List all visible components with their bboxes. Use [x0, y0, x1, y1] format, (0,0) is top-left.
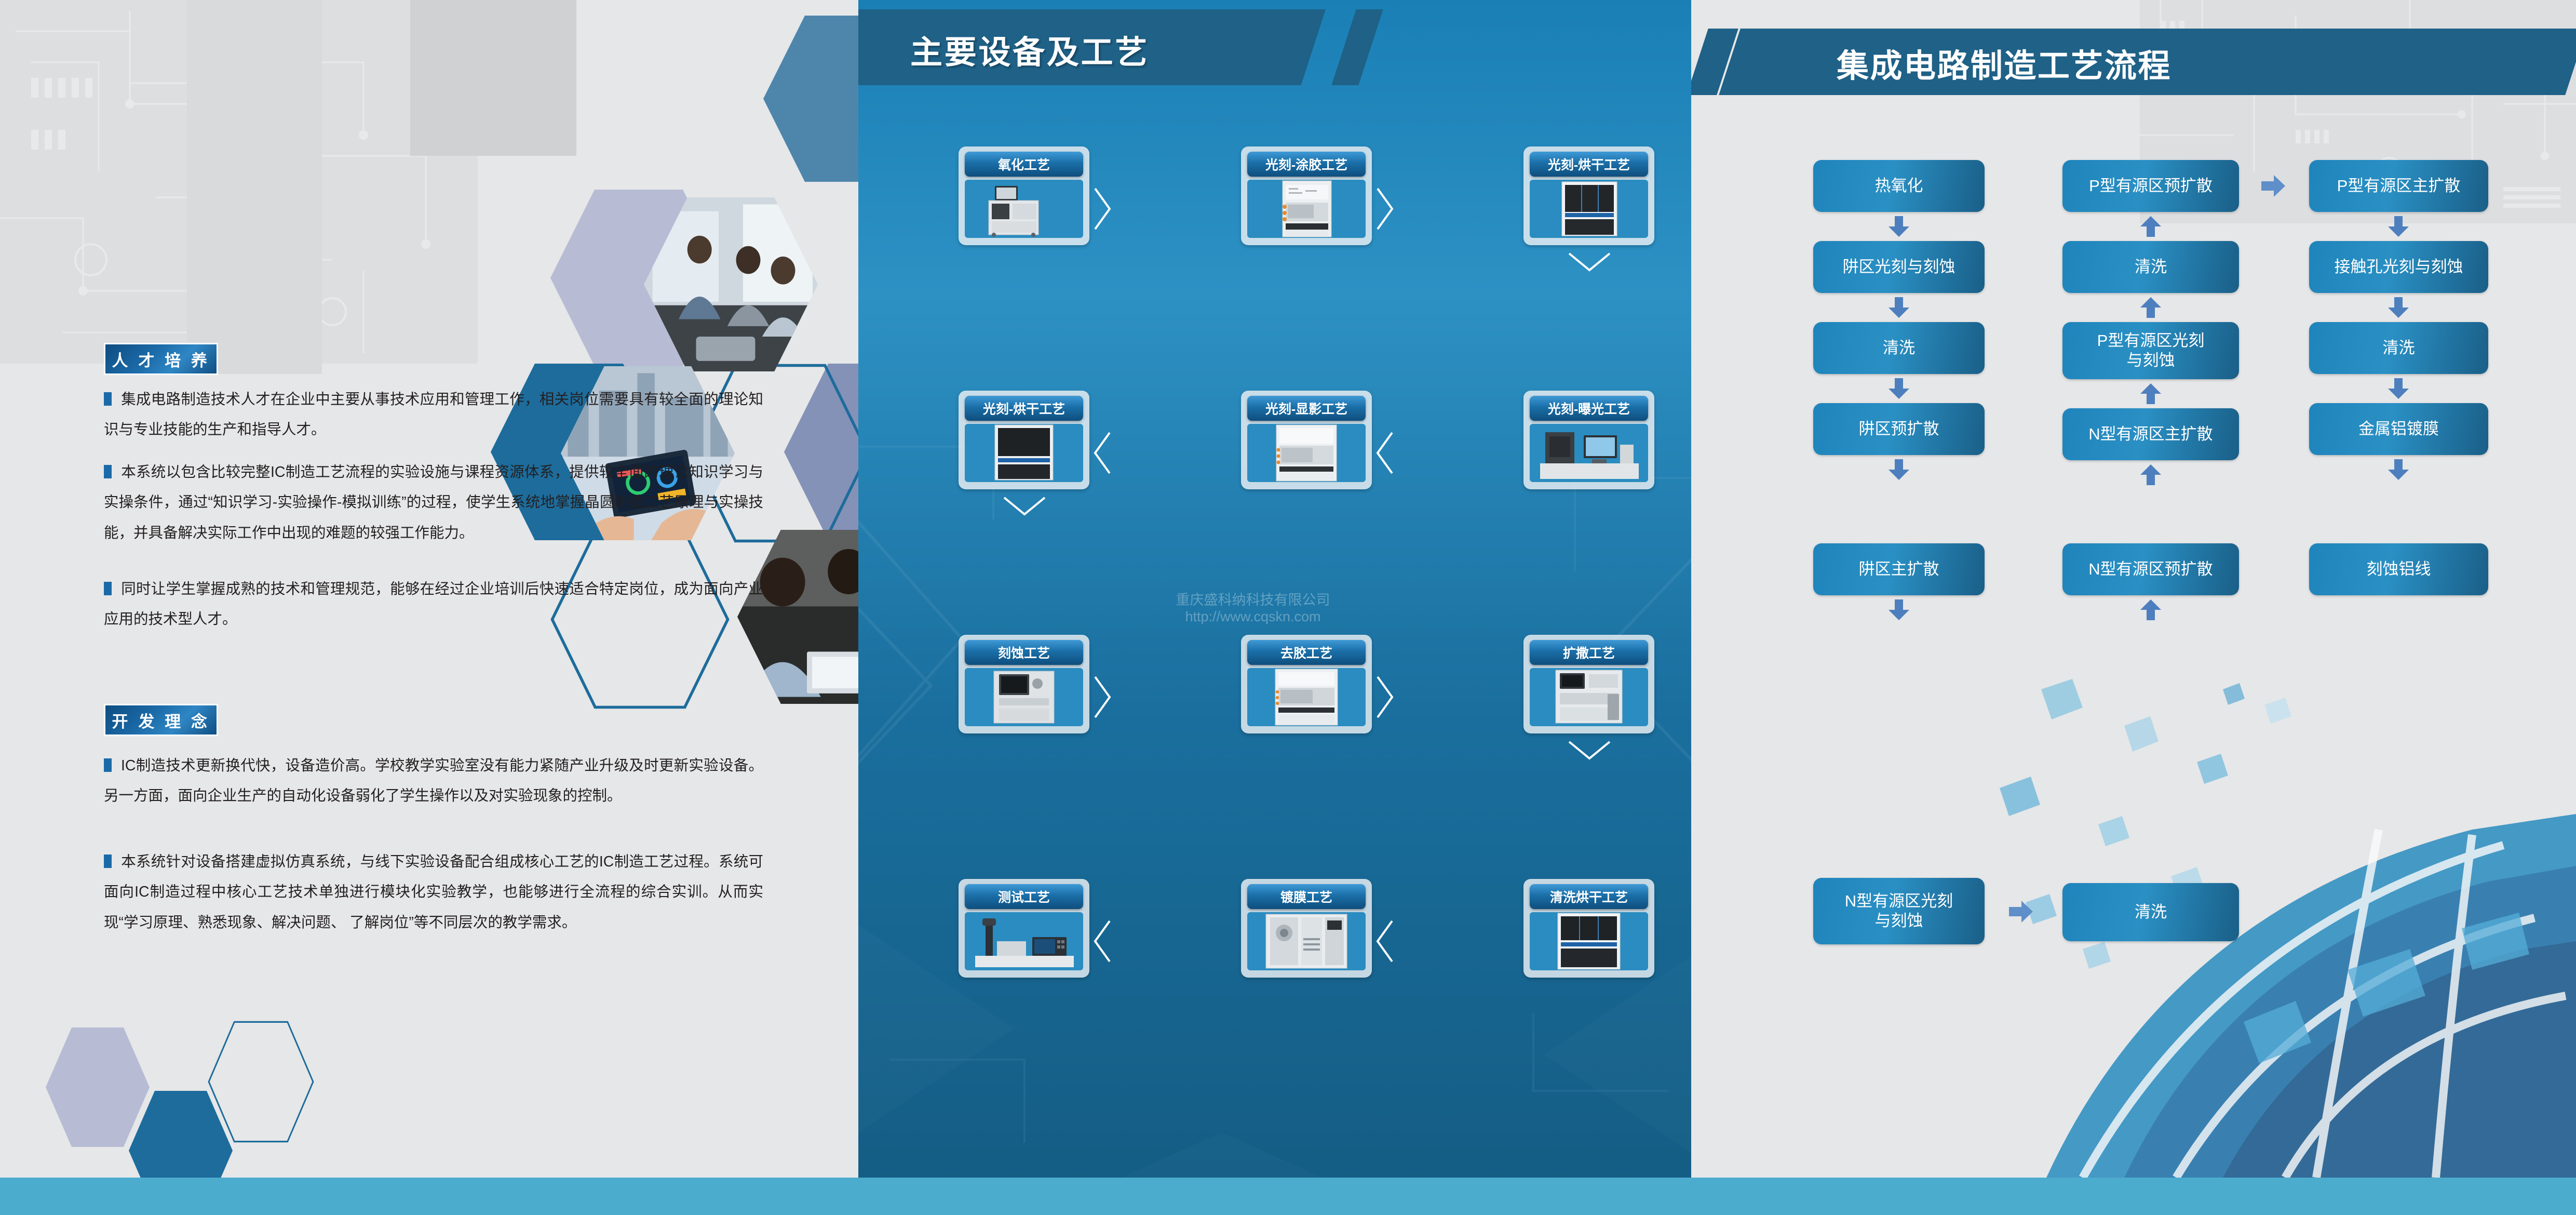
arrow-down-icon	[1566, 250, 1613, 274]
flow-box-c1-3[interactable]: 阱区预扩散	[1813, 403, 1985, 455]
arrow-down-icon	[2388, 216, 2409, 237]
paragraph-talent-1: 集成电路制造技术人才在企业中主要从事技术应用和管理工作，相关岗位需要具有较全面的…	[104, 384, 763, 445]
bullet-square-icon	[104, 392, 112, 406]
arrow-left-icon	[1373, 918, 1396, 965]
equipment-card[interactable]: 光刻-涂胶工艺	[1241, 146, 1372, 245]
arrow-down-icon	[1566, 739, 1613, 763]
hexagon-bottom-outline	[208, 1021, 314, 1143]
arrow-right-icon	[2261, 175, 2285, 197]
arrow-down-icon	[1889, 216, 1909, 237]
arrow-up-icon	[2140, 216, 2161, 237]
equipment-label: 扩撒工艺	[1530, 640, 1648, 665]
bullet-square-icon	[104, 465, 112, 478]
flow-box-c2-2[interactable]: P型有源区光刻 与刻蚀	[2062, 322, 2239, 379]
equipment-label: 光刻-曝光工艺	[1530, 396, 1648, 421]
arrow-left-icon	[1091, 918, 1114, 965]
badge-development-concept: 开 发 理 念	[104, 704, 218, 736]
flow-box-c3-3[interactable]: 金属铝镀膜	[2309, 403, 2488, 455]
equipment-label: 光刻-烘干工艺	[1530, 152, 1648, 177]
grey-accent-block-2	[187, 0, 322, 374]
equipment-card[interactable]: 镀膜工艺	[1241, 879, 1372, 978]
arrow-down-icon	[1889, 378, 1909, 399]
arrow-down-icon	[1889, 297, 1909, 318]
equipment-photo-oxidation	[965, 180, 1083, 238]
flow-box-c1-4[interactable]: 阱区主扩散	[1813, 543, 1985, 595]
equipment-photo-etch	[965, 668, 1083, 726]
equipment-label: 镀膜工艺	[1247, 884, 1366, 909]
equipment-card[interactable]: 清洗烘干工艺	[1523, 879, 1654, 978]
badge-talent-training-label: 人 才 培 养	[112, 348, 210, 371]
equipment-label: 光刻-显影工艺	[1247, 396, 1366, 421]
flow-box-c2-3[interactable]: N型有源区主扩散	[2062, 408, 2239, 460]
flow-box-c3-1[interactable]: 接触孔光刻与刻蚀	[2309, 241, 2488, 293]
paragraph-talent-1-text: 集成电路制造技术人才在企业中主要从事技术应用和管理工作，相关岗位需要具有较全面的…	[104, 391, 763, 438]
flow-box-c2-1[interactable]: 清洗	[2062, 241, 2239, 293]
paragraph-dev-1-text: IC制造技术更新换代快，设备造价高。学校教学实验室没有能力紧随产业升级及时更新实…	[104, 757, 763, 804]
flow-box-c1-1[interactable]: 阱区光刻与刻蚀	[1813, 241, 1985, 293]
flow-box-c3-2[interactable]: 清洗	[2309, 322, 2488, 374]
bottom-accent-strip	[0, 1178, 2576, 1215]
arrow-down-icon	[1001, 495, 1048, 518]
arrow-left-icon	[1091, 430, 1114, 476]
equipment-photo-diffusion	[1530, 668, 1648, 726]
flow-box-c1-5[interactable]: N型有源区光刻 与刻蚀	[1813, 878, 1985, 944]
right-panel-title: 集成电路制造工艺流程	[1837, 39, 2172, 86]
equipment-photo-bake-2	[965, 424, 1083, 482]
arrow-right-icon	[1373, 674, 1396, 720]
equipment-label: 光刻-涂胶工艺	[1247, 152, 1366, 177]
paragraph-talent-2-text: 本系统以包含比较完整IC制造工艺流程的实验设施与课程资源体系，提供较全面的理论知…	[104, 464, 763, 541]
flow-box-c2-5[interactable]: 清洗	[2062, 883, 2239, 941]
equipment-card[interactable]: 测试工艺	[959, 879, 1089, 978]
equipment-label: 刻蚀工艺	[965, 640, 1083, 665]
bullet-square-icon	[104, 582, 112, 595]
middle-panel-header-slash	[1331, 9, 1383, 85]
arrow-down-icon	[1889, 599, 1909, 620]
equipment-card[interactable]: 光刻-曝光工艺	[1523, 391, 1654, 489]
equipment-card[interactable]: 刻蚀工艺	[959, 635, 1089, 733]
arrow-right-icon	[1373, 185, 1396, 232]
hexagon-solid-teal	[763, 16, 858, 182]
bullet-square-icon	[104, 758, 112, 772]
paragraph-talent-2: 本系统以包含比较完整IC制造工艺流程的实验设施与课程资源体系，提供较全面的理论知…	[104, 457, 763, 548]
arrow-down-icon	[2388, 378, 2409, 399]
equipment-photo-clean-dry	[1530, 912, 1648, 970]
right-panel: 集成电路制造工艺流程	[1691, 0, 2576, 1178]
paragraph-talent-3: 同时让学生掌握成熟的技术和管理规范，能够在经过企业培训后快速适合特定岗位，成为面…	[104, 574, 763, 635]
arrow-down-icon	[1889, 459, 1909, 480]
flow-box-c1-0[interactable]: 热氧化	[1813, 160, 1985, 212]
equipment-label: 清洗烘干工艺	[1530, 884, 1648, 909]
arrow-up-icon	[2140, 599, 2161, 620]
bullet-square-icon	[104, 854, 112, 868]
middle-panel: 主要设备及工艺 氧化工艺 光刻-涂胶	[858, 0, 1691, 1178]
equipment-photo-deposition	[1247, 912, 1366, 970]
arrow-up-icon	[2140, 297, 2161, 318]
arrow-down-icon	[2388, 459, 2409, 480]
equipment-card[interactable]: 扩撒工艺	[1523, 635, 1654, 733]
left-panel: 人 才 培 养 集成电路制造技术人才在企业中主要从事技术应用和管理工作，相关岗位…	[0, 0, 858, 1178]
middle-panel-decoration	[858, 416, 1691, 1178]
equipment-card[interactable]: 氧化工艺	[959, 146, 1089, 245]
middle-panel-title: 主要设备及工艺	[910, 26, 1305, 73]
equipment-card[interactable]: 光刻-烘干工艺	[959, 391, 1089, 489]
grey-accent-block	[410, 0, 576, 156]
paragraph-dev-2: 本系统针对设备搭建虚拟仿真系统，与线下实验设备配合组成核心工艺的IC制造工艺过程…	[104, 847, 763, 938]
paragraph-talent-3-text: 同时让学生掌握成熟的技术和管理规范，能够在经过企业培训后快速适合特定岗位，成为面…	[104, 581, 763, 627]
globe-decoration	[1953, 658, 2576, 1178]
equipment-card[interactable]: 去胶工艺	[1241, 635, 1372, 733]
equipment-photo-coating	[1247, 180, 1366, 238]
equipment-photo-test	[965, 912, 1083, 970]
arrow-right-icon	[1091, 674, 1114, 720]
arrow-left-icon	[1373, 430, 1396, 476]
equipment-card[interactable]: 光刻-显影工艺	[1241, 391, 1372, 489]
badge-talent-training: 人 才 培 养	[104, 343, 218, 375]
equipment-label: 测试工艺	[965, 884, 1083, 909]
poster-page: 人 才 培 养 集成电路制造技术人才在企业中主要从事技术应用和管理工作，相关岗位…	[0, 0, 2576, 1215]
arrow-right-icon	[2009, 901, 2033, 923]
equipment-photo-exposure	[1530, 424, 1648, 482]
equipment-photo-strip	[1247, 668, 1366, 726]
equipment-photo-develop	[1247, 424, 1366, 482]
arrow-up-icon	[2140, 383, 2161, 404]
flow-box-c3-4[interactable]: 刻蚀铝线	[2309, 543, 2488, 595]
equipment-photo-bake	[1530, 180, 1648, 238]
arrow-up-icon	[2140, 464, 2161, 485]
arrow-right-icon	[1091, 185, 1114, 232]
flow-box-c1-2[interactable]: 清洗	[1813, 322, 1985, 374]
flow-box-c2-4[interactable]: N型有源区预扩散	[2062, 543, 2239, 595]
flow-box-c2-0[interactable]: P型有源区预扩散	[2062, 160, 2239, 212]
equipment-label: 光刻-烘干工艺	[965, 396, 1083, 421]
paragraph-dev-2-text: 本系统针对设备搭建虚拟仿真系统，与线下实验设备配合组成核心工艺的IC制造工艺过程…	[104, 853, 763, 931]
equipment-label: 去胶工艺	[1247, 640, 1366, 665]
equipment-card[interactable]: 光刻-烘干工艺	[1523, 146, 1654, 245]
hexagon-bottom-light	[46, 1027, 150, 1147]
flow-box-c3-0[interactable]: P型有源区主扩散	[2309, 160, 2488, 212]
equipment-label: 氧化工艺	[965, 152, 1083, 177]
paragraph-dev-1: IC制造技术更新换代快，设备造价高。学校教学实验室没有能力紧随产业升级及时更新实…	[104, 751, 763, 811]
badge-development-concept-label: 开 发 理 念	[112, 709, 210, 732]
arrow-down-icon	[2388, 297, 2409, 318]
